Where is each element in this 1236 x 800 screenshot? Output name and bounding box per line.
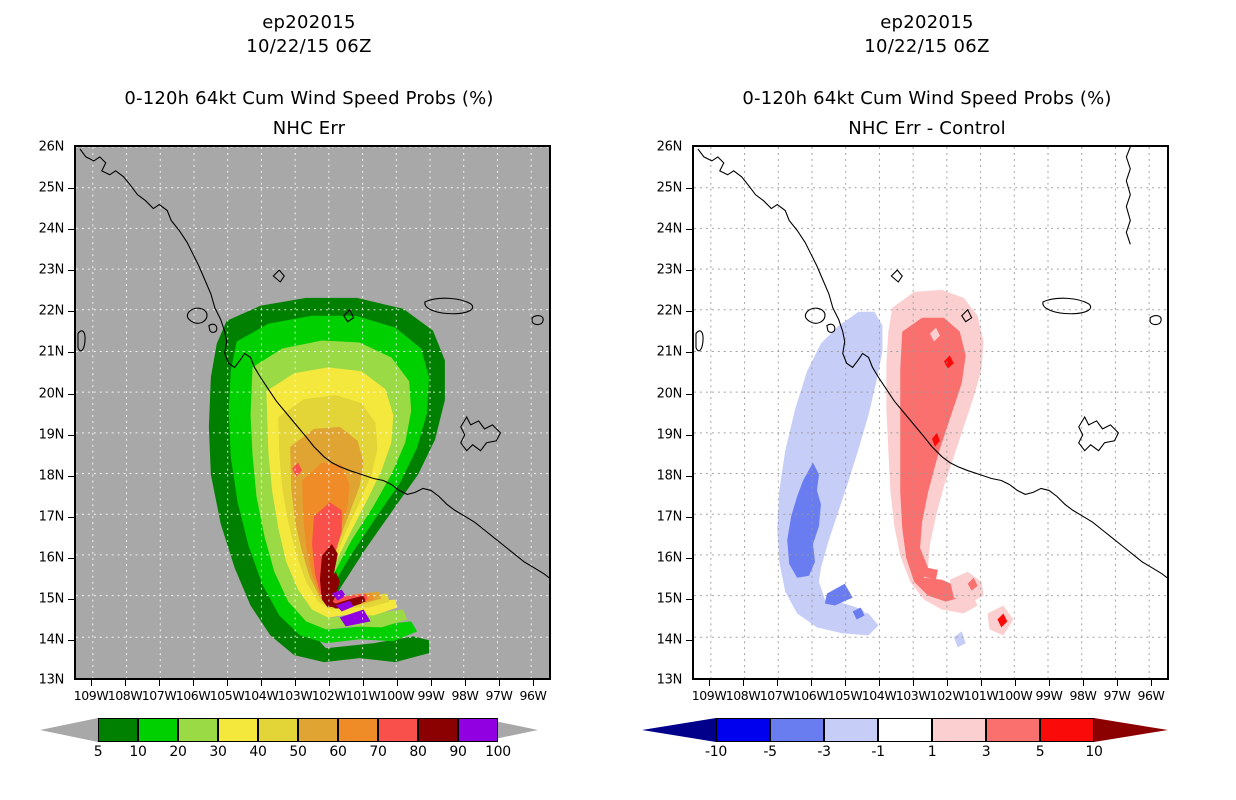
colorbar-swatch xyxy=(98,718,138,742)
colorbar-swatch xyxy=(338,718,378,742)
y-tick-label: 20N xyxy=(20,387,64,402)
colorbar-swatch xyxy=(258,718,298,742)
y-tick-label: 24N xyxy=(638,222,682,237)
y-tick-label: 21N xyxy=(20,345,64,360)
panel-datetime: 10/22/15 06Z xyxy=(0,36,618,57)
y-tick-label: 22N xyxy=(638,304,682,319)
panel-datetime: 10/22/15 06Z xyxy=(618,36,1236,57)
y-tick-label: 26N xyxy=(20,140,64,155)
y-tick-label: 21N xyxy=(638,345,682,360)
y-tick-label: 25N xyxy=(20,181,64,196)
y-tick-label: 22N xyxy=(20,304,64,319)
colorbar-under-arrow xyxy=(40,718,98,742)
colorbar-tick-label: 3 xyxy=(964,744,1008,760)
colorbar-tick-label: -5 xyxy=(748,744,792,760)
colorbar-tick-label: 10 xyxy=(116,744,160,760)
colorbar-swatch xyxy=(770,718,824,742)
panel-subtitle: NHC Err xyxy=(0,118,618,139)
y-tick-label: 14N xyxy=(20,633,64,648)
colorbar-difference: -10 -5 -3 -1 1 3 5 10 xyxy=(618,718,1236,742)
coastline-left xyxy=(76,147,549,678)
panel-storm-id: ep202015 xyxy=(0,12,618,33)
colorbar-probability: 5 10 20 30 40 50 60 70 80 90 100 xyxy=(0,718,618,742)
colorbar-tick-label: 90 xyxy=(436,744,480,760)
colorbar-tick-label: 5 xyxy=(1018,744,1062,760)
colorbar-swatch xyxy=(824,718,878,742)
x-tick-label: 96W xyxy=(510,688,556,703)
y-tick-label: 15N xyxy=(20,592,64,607)
panel-subtitle: NHC Err - Control xyxy=(618,118,1236,139)
colorbar-tick-label: 70 xyxy=(356,744,400,760)
y-tick-label: 20N xyxy=(638,387,682,402)
y-tick-label: 23N xyxy=(638,263,682,278)
panel-nhc-err-minus-control: ep202015 10/22/15 06Z 0-120h 64kt Cum Wi… xyxy=(618,0,1236,800)
x-tick-label: 96W xyxy=(1128,688,1174,703)
colorbar-swatch xyxy=(138,718,178,742)
colorbar-tick-label: 20 xyxy=(156,744,200,760)
panel-storm-id: ep202015 xyxy=(618,12,1236,33)
colorbar-tick-label: -3 xyxy=(802,744,846,760)
colorbar-under-arrow xyxy=(642,718,716,742)
colorbar-swatch xyxy=(218,718,258,742)
colorbar-tick-label: 5 xyxy=(76,744,120,760)
map-plot-area-left xyxy=(74,145,551,680)
y-tick-label: 25N xyxy=(638,181,682,196)
colorbar-tick-label: 30 xyxy=(196,744,240,760)
y-tick-label: 18N xyxy=(638,469,682,484)
colorbar-tick-label: 10 xyxy=(1072,744,1116,760)
colorbar-swatch xyxy=(986,718,1040,742)
y-tick-label: 19N xyxy=(638,428,682,443)
colorbar-tick-label: -10 xyxy=(694,744,738,760)
y-tick-label: 16N xyxy=(638,551,682,566)
colorbar-swatch xyxy=(1040,718,1094,742)
panel-title: 0-120h 64kt Cum Wind Speed Probs (%) xyxy=(0,88,618,109)
colorbar-tick-label: 1 xyxy=(910,744,954,760)
colorbar-tick-label: 50 xyxy=(276,744,320,760)
colorbar-swatch xyxy=(716,718,770,742)
colorbar-tick-label: 100 xyxy=(476,744,520,760)
y-tick-label: 13N xyxy=(638,673,682,688)
y-tick-label: 13N xyxy=(20,673,64,688)
coastline-right xyxy=(694,147,1167,678)
y-tick-label: 16N xyxy=(20,551,64,566)
colorbar-tick-label: 80 xyxy=(396,744,440,760)
colorbar-swatch xyxy=(418,718,458,742)
colorbar-swatch xyxy=(878,718,932,742)
panel-title: 0-120h 64kt Cum Wind Speed Probs (%) xyxy=(618,88,1236,109)
colorbar-over-arrow xyxy=(1094,718,1168,742)
colorbar-swatch xyxy=(178,718,218,742)
y-tick-label: 23N xyxy=(20,263,64,278)
y-tick-label: 24N xyxy=(20,222,64,237)
colorbar-tick-label: -1 xyxy=(856,744,900,760)
colorbar-swatch xyxy=(298,718,338,742)
colorbar-tick-label: 60 xyxy=(316,744,360,760)
colorbar-swatch xyxy=(932,718,986,742)
map-plot-area-right xyxy=(692,145,1169,680)
colorbar-tick-label: 40 xyxy=(236,744,280,760)
y-tick-label: 14N xyxy=(638,633,682,648)
y-tick-label: 17N xyxy=(638,510,682,525)
colorbar-swatch xyxy=(458,718,498,742)
panel-nhc-err: ep202015 10/22/15 06Z 0-120h 64kt Cum Wi… xyxy=(0,0,618,800)
y-tick-label: 18N xyxy=(20,469,64,484)
y-tick-label: 26N xyxy=(638,140,682,155)
y-tick-label: 19N xyxy=(20,428,64,443)
y-tick-label: 15N xyxy=(638,592,682,607)
y-tick-label: 17N xyxy=(20,510,64,525)
colorbar-swatch xyxy=(378,718,418,742)
